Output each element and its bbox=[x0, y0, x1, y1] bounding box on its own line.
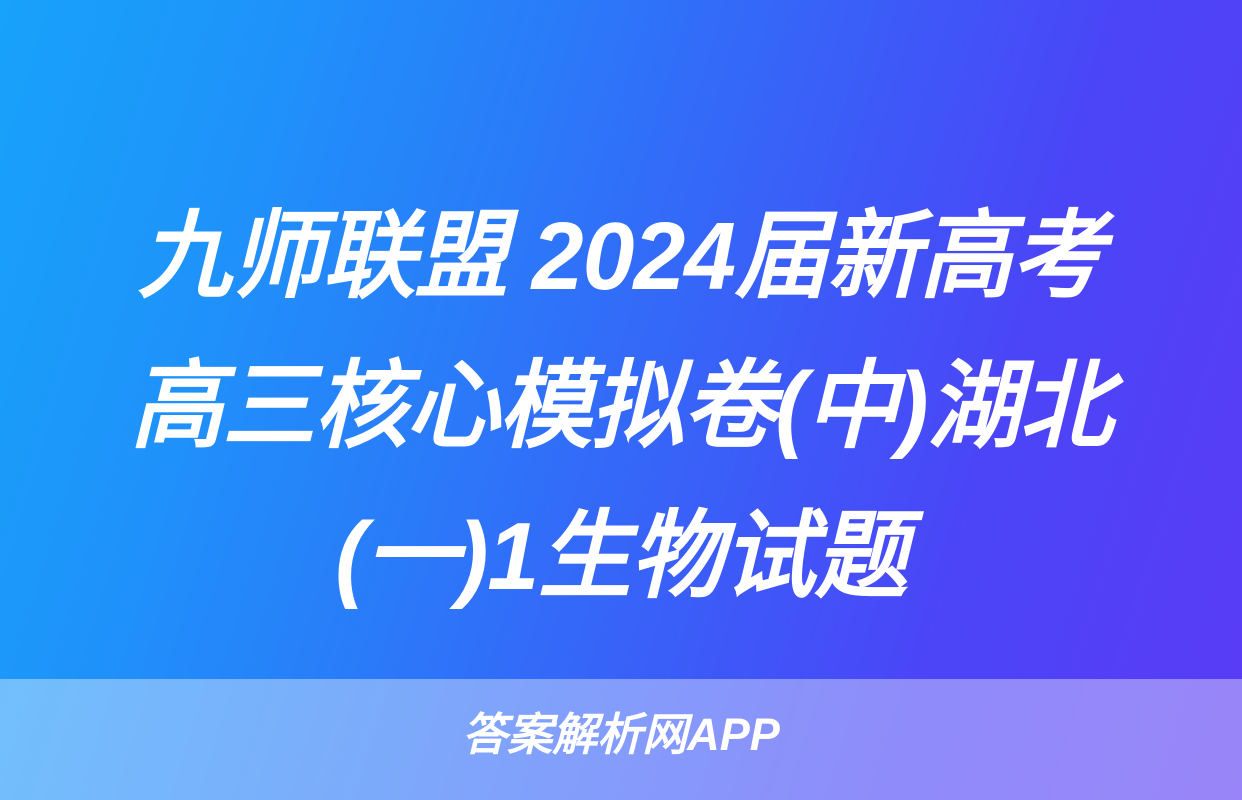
page-title: 九师联盟 2024届新高考 高三核心模拟卷(中)湖北 (一)1生物试题 bbox=[0, 182, 1242, 632]
watermark: 答案解析网APP bbox=[0, 708, 1242, 762]
title-line-3: (一)1生物试题 bbox=[19, 482, 1224, 632]
title-line-1: 九师联盟 2024届新高考 bbox=[19, 182, 1224, 332]
watermark-label: 答案解析网APP bbox=[462, 708, 780, 762]
poster-card: 九师联盟 2024届新高考 高三核心模拟卷(中)湖北 (一)1生物试题 答案解析… bbox=[0, 0, 1242, 800]
title-line-2: 高三核心模拟卷(中)湖北 bbox=[19, 332, 1224, 482]
